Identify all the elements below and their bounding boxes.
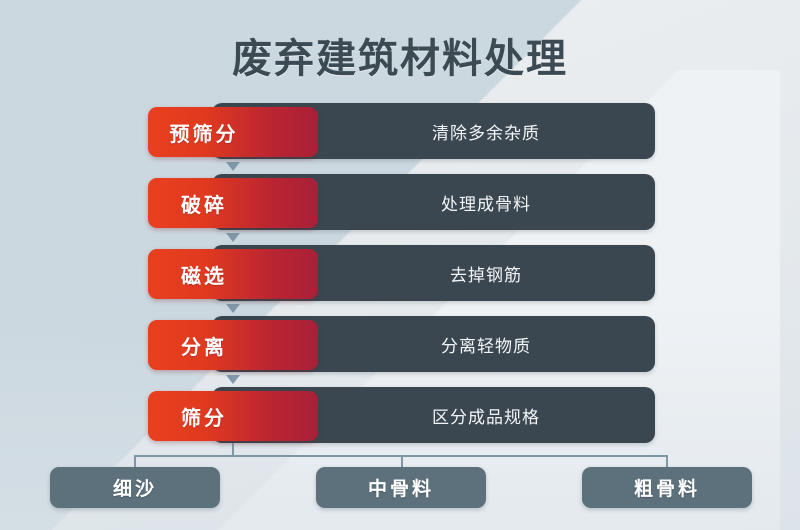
output-label-2: 中骨料 [368, 474, 434, 501]
output-label-1: 细沙 [113, 474, 157, 501]
process-step-2[interactable]: 处理成骨料 破碎 [0, 174, 800, 230]
process-step-5[interactable]: 区分成品规格 筛分 [0, 387, 800, 443]
triangle-down-icon [226, 375, 240, 384]
step-pill-1[interactable]: 预筛分 [148, 107, 318, 157]
triangle-down-icon [226, 304, 240, 313]
process-step-3[interactable]: 去掉钢筋 磁选 [0, 245, 800, 301]
output-box-2[interactable]: 中骨料 [316, 467, 486, 508]
step-pill-3[interactable]: 磁选 [148, 249, 318, 299]
step-pill-5[interactable]: 筛分 [148, 391, 318, 441]
step-name-2: 破碎 [181, 189, 285, 218]
step-name-3: 磁选 [181, 260, 285, 289]
output-box-1[interactable]: 细沙 [50, 467, 220, 508]
triangle-down-icon [226, 233, 240, 242]
step-name-1: 预筛分 [170, 118, 297, 147]
step-name-5: 筛分 [181, 402, 285, 431]
output-box-3[interactable]: 粗骨料 [582, 467, 752, 508]
process-step-4[interactable]: 分离轻物质 分离 [0, 316, 800, 372]
process-step-1[interactable]: 清除多余杂质 预筛分 [0, 103, 800, 159]
waste-material-process-infographic: 废弃建筑材料处理 清除多余杂质 预筛分 处理成骨料 破碎 去掉钢筋 磁选 [0, 0, 800, 530]
step-pill-2[interactable]: 破碎 [148, 178, 318, 228]
step-pill-4[interactable]: 分离 [148, 320, 318, 370]
page-title: 废弃建筑材料处理 [0, 26, 800, 84]
step-name-4: 分离 [181, 331, 285, 360]
triangle-down-icon [226, 162, 240, 171]
output-label-3: 粗骨料 [634, 474, 700, 501]
